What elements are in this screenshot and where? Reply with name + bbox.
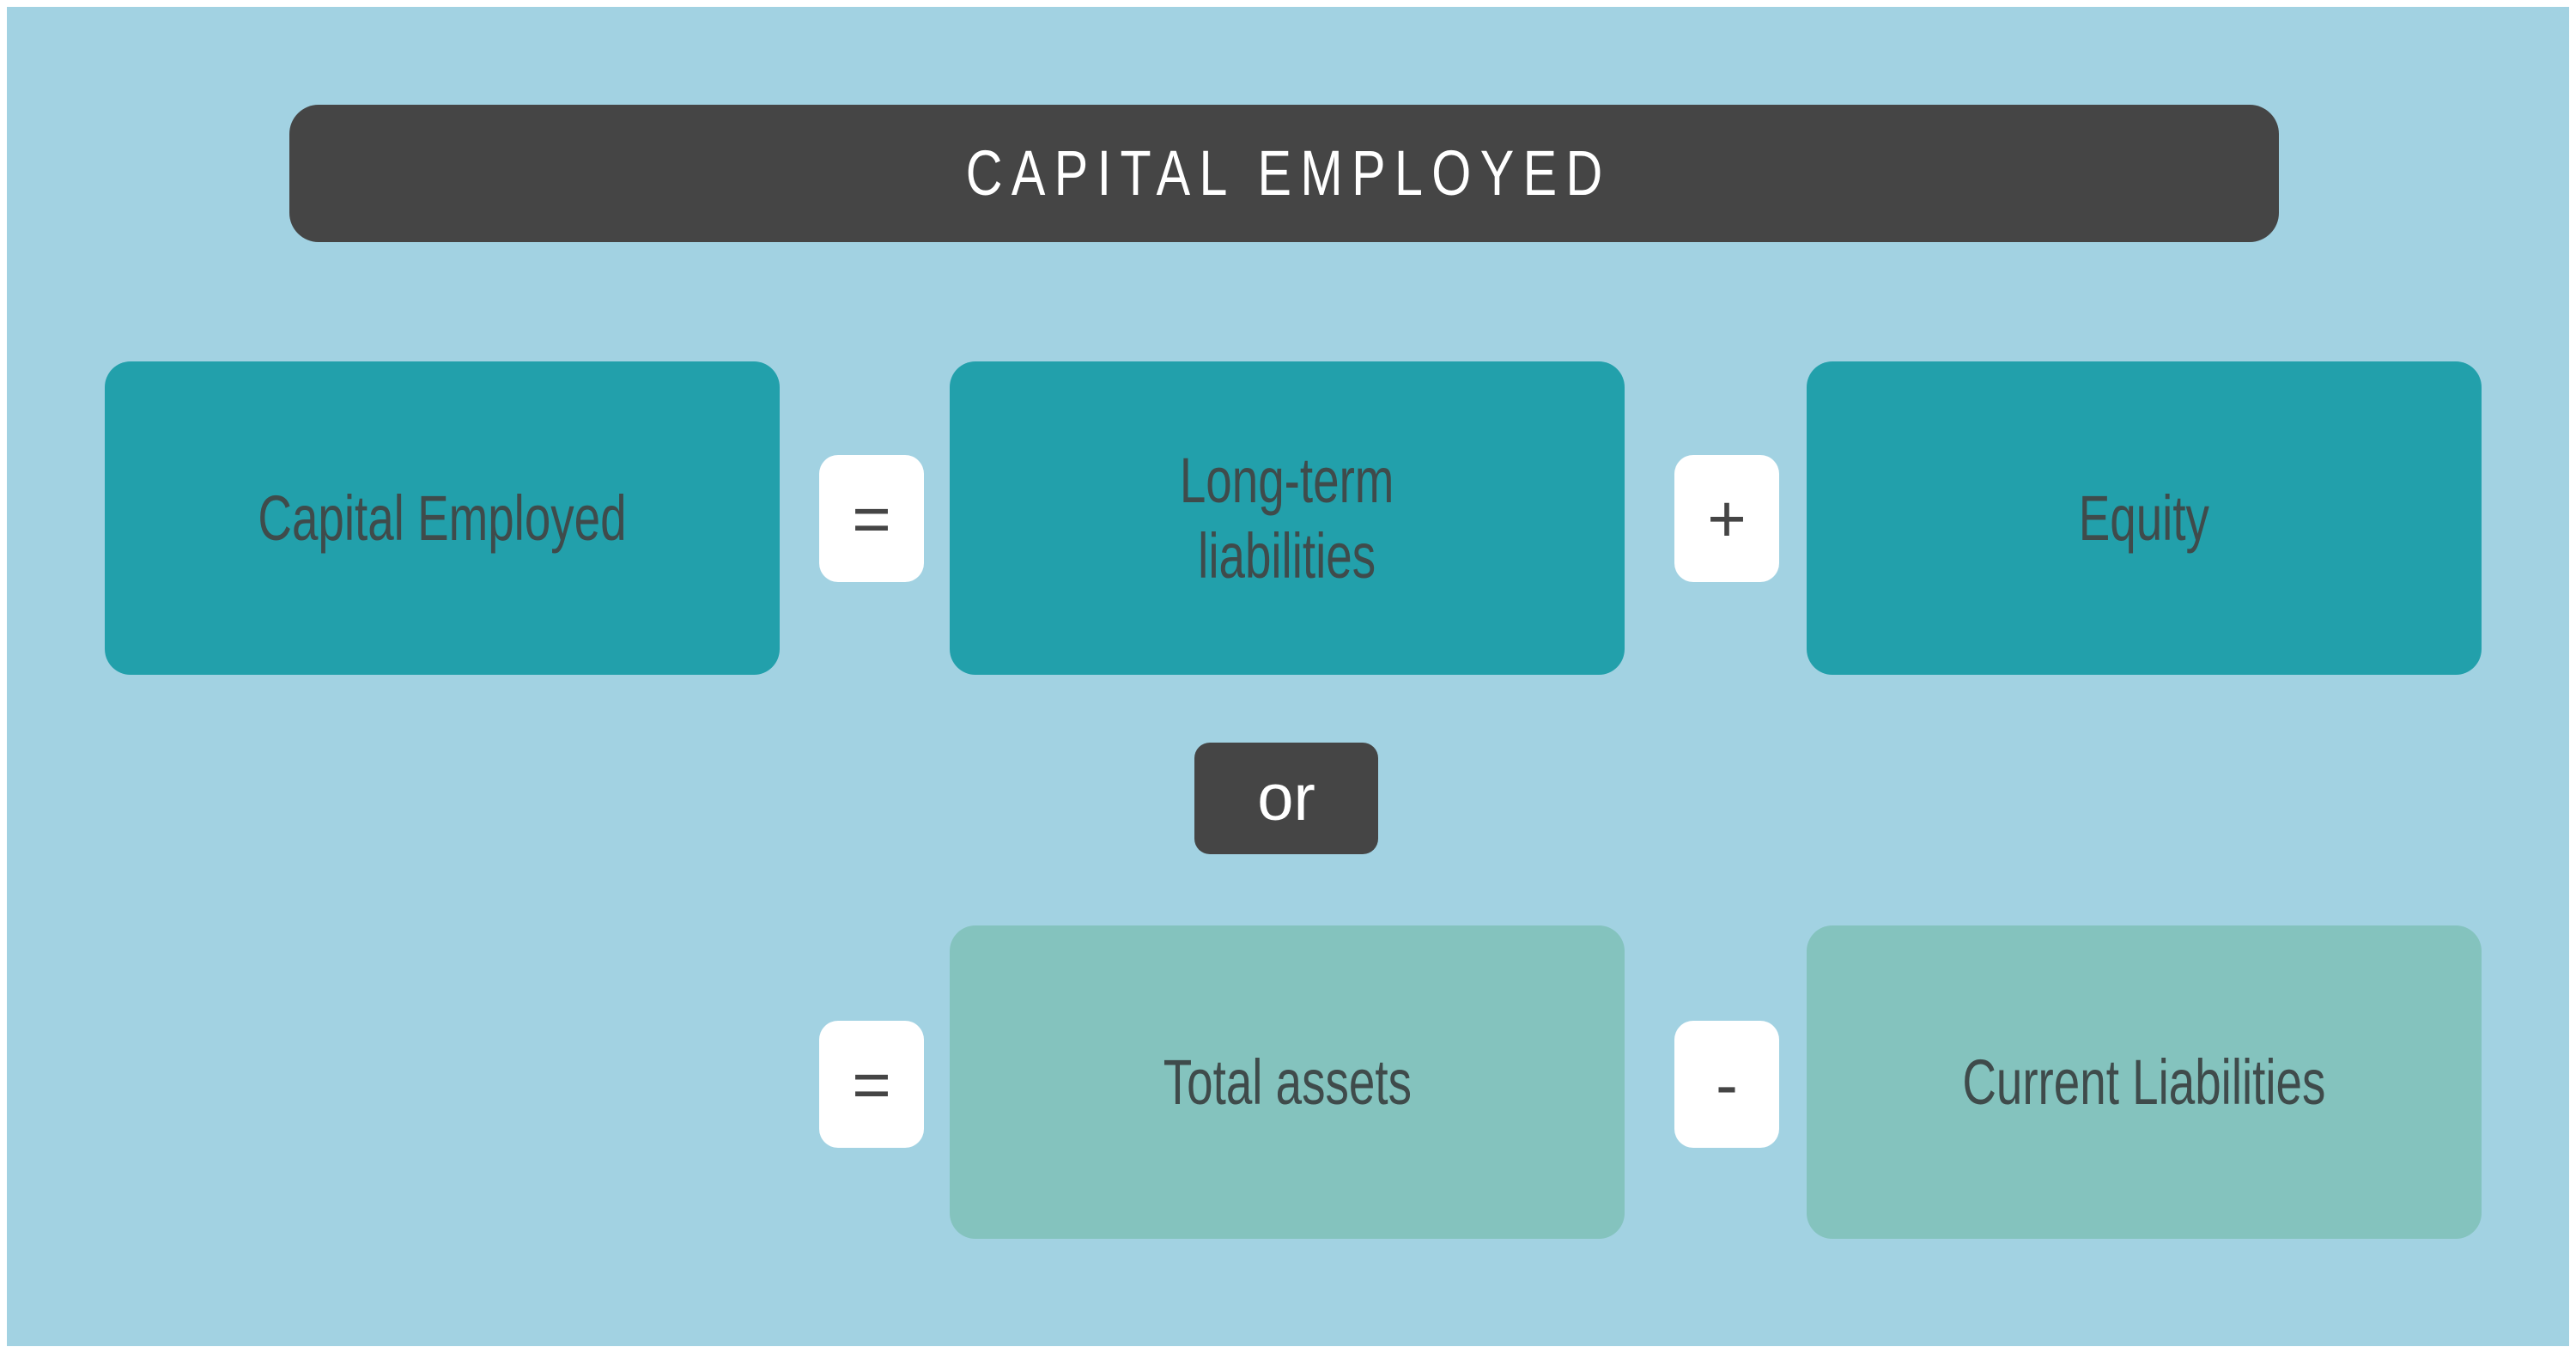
term-label-total-assets: Total assets bbox=[1163, 1045, 1411, 1119]
term-label-equity: Equity bbox=[2079, 481, 2209, 555]
term-box-equity: Equity bbox=[1807, 361, 2482, 675]
diagram-canvas: CAPITAL EMPLOYED Capital Employed = Long… bbox=[7, 7, 2569, 1346]
term-box-current-liabilities: Current Liabilities bbox=[1807, 925, 2482, 1239]
operator-chip-equals-primary: = bbox=[819, 455, 924, 582]
page-title: CAPITAL EMPLOYED bbox=[957, 142, 1611, 205]
term-label-capital-employed: Capital Employed bbox=[258, 481, 626, 555]
term-label-current-liabilities: Current Liabilities bbox=[1962, 1045, 2325, 1119]
term-label-long-term-liabilities: Long-term liabilities bbox=[1180, 443, 1394, 593]
operator-chip-minus: - bbox=[1674, 1021, 1779, 1148]
operator-chip-plus: + bbox=[1674, 455, 1779, 582]
equals-icon: = bbox=[852, 485, 891, 552]
term-box-total-assets: Total assets bbox=[950, 925, 1625, 1239]
equals-icon: = bbox=[852, 1051, 891, 1118]
operator-chip-equals-alternate: = bbox=[819, 1021, 924, 1148]
or-divider-badge: or bbox=[1194, 743, 1378, 854]
term-box-long-term-liabilities: Long-term liabilities bbox=[950, 361, 1625, 675]
minus-icon: - bbox=[1716, 1051, 1738, 1118]
term-box-capital-employed: Capital Employed bbox=[105, 361, 780, 675]
or-divider-label: or bbox=[1257, 766, 1315, 831]
plus-icon: + bbox=[1707, 485, 1747, 552]
page-title-banner: CAPITAL EMPLOYED bbox=[289, 105, 2279, 242]
